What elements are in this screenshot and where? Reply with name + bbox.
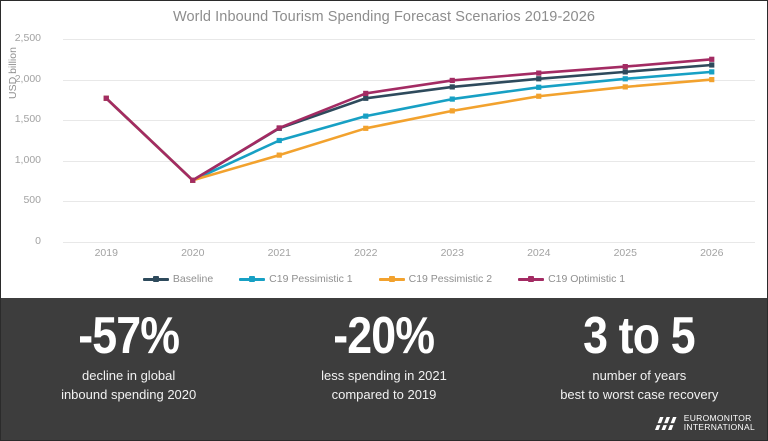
chart-title: World Inbound Tourism Spending Forecast … (1, 9, 767, 25)
x-axis-tick-label: 2026 (700, 247, 723, 259)
series-marker (450, 108, 455, 113)
stat-description-line: best to worst case recovery (560, 386, 718, 405)
euromonitor-logo-icon (653, 415, 679, 432)
euromonitor-logo-text: EUROMONITOR INTERNATIONAL (684, 414, 755, 432)
series-marker (709, 77, 714, 82)
legend-item[interactable]: C19 Pessimistic 1 (239, 273, 352, 285)
stat-description-line: number of years (560, 367, 718, 386)
stat-description-line: inbound spending 2020 (61, 386, 196, 405)
chart-panel: World Inbound Tourism Spending Forecast … (1, 1, 767, 296)
series-line (106, 65, 712, 180)
legend-label: C19 Optimistic 1 (548, 273, 625, 285)
series-marker (450, 84, 455, 89)
legend-label: C19 Pessimistic 1 (269, 273, 352, 285)
series-marker (450, 78, 455, 83)
x-axis-tick-label: 2019 (95, 247, 118, 259)
series-marker (363, 114, 368, 119)
stat-description: less spending in 2021compared to 2019 (321, 367, 447, 405)
x-axis-tick-label: 2021 (268, 247, 291, 259)
stat-description-line: decline in global (61, 367, 196, 386)
x-axis-tick-label: 2023 (441, 247, 464, 259)
series-marker (536, 94, 541, 99)
x-axis-tick-label: 2024 (527, 247, 550, 259)
series-marker (709, 57, 714, 62)
series-marker (536, 71, 541, 76)
y-axis-tick-label: 2,500 (0, 32, 41, 44)
series-marker (450, 96, 455, 101)
series-marker (363, 126, 368, 131)
logo-line-2: INTERNATIONAL (684, 423, 755, 432)
series-marker (363, 91, 368, 96)
gridline (63, 242, 755, 243)
plot-area: 2,5002,0001,5001,0005000 201920202021202… (63, 39, 755, 242)
stat-description: number of yearsbest to worst case recove… (560, 367, 718, 405)
x-axis-tick-label: 2020 (181, 247, 204, 259)
stat-block: -20%less spending in 2021compared to 201… (256, 298, 511, 440)
series-marker (623, 84, 628, 89)
x-axis-tick-label: 2025 (614, 247, 637, 259)
series-marker (536, 85, 541, 90)
chart-legend: BaselineC19 Pessimistic 1C19 Pessimistic… (1, 273, 767, 285)
series-marker (709, 69, 714, 74)
series-marker (104, 96, 109, 101)
series-marker (536, 76, 541, 81)
euromonitor-logo: EUROMONITOR INTERNATIONAL (653, 414, 755, 432)
legend-label: C19 Pessimistic 2 (409, 273, 492, 285)
legend-color-swatch (518, 274, 544, 284)
stat-block: -57%decline in globalinbound spending 20… (1, 298, 256, 440)
y-axis-tick-label: 2,000 (0, 73, 41, 85)
stat-description: decline in globalinbound spending 2020 (61, 367, 196, 405)
stat-description-line: compared to 2019 (321, 386, 447, 405)
series-marker (277, 125, 282, 130)
legend-item[interactable]: C19 Pessimistic 2 (379, 273, 492, 285)
infographic-root: World Inbound Tourism Spending Forecast … (0, 0, 768, 441)
stat-value: -57% (78, 310, 179, 363)
x-axis-tick-label: 2022 (354, 247, 377, 259)
y-axis-tick-label: 1,000 (0, 154, 41, 166)
series-marker (623, 64, 628, 69)
series-marker (623, 69, 628, 74)
series-layer (63, 39, 755, 242)
legend-color-swatch (379, 274, 405, 284)
legend-color-swatch (143, 274, 169, 284)
y-axis-tick-label: 500 (0, 194, 41, 206)
series-marker (363, 96, 368, 101)
stat-description-line: less spending in 2021 (321, 367, 447, 386)
series-marker (277, 138, 282, 143)
stat-value: -20% (333, 310, 434, 363)
y-axis-tick-label: 0 (0, 235, 41, 247)
series-marker (623, 76, 628, 81)
stat-value: 3 to 5 (583, 310, 695, 363)
series-marker (190, 178, 195, 183)
y-axis-tick-label: 1,500 (0, 113, 41, 125)
legend-color-swatch (239, 274, 265, 284)
legend-item[interactable]: C19 Optimistic 1 (518, 273, 625, 285)
legend-item[interactable]: Baseline (143, 273, 213, 285)
series-marker (277, 153, 282, 158)
legend-label: Baseline (173, 273, 213, 285)
series-line (106, 80, 712, 181)
series-marker (709, 62, 714, 67)
